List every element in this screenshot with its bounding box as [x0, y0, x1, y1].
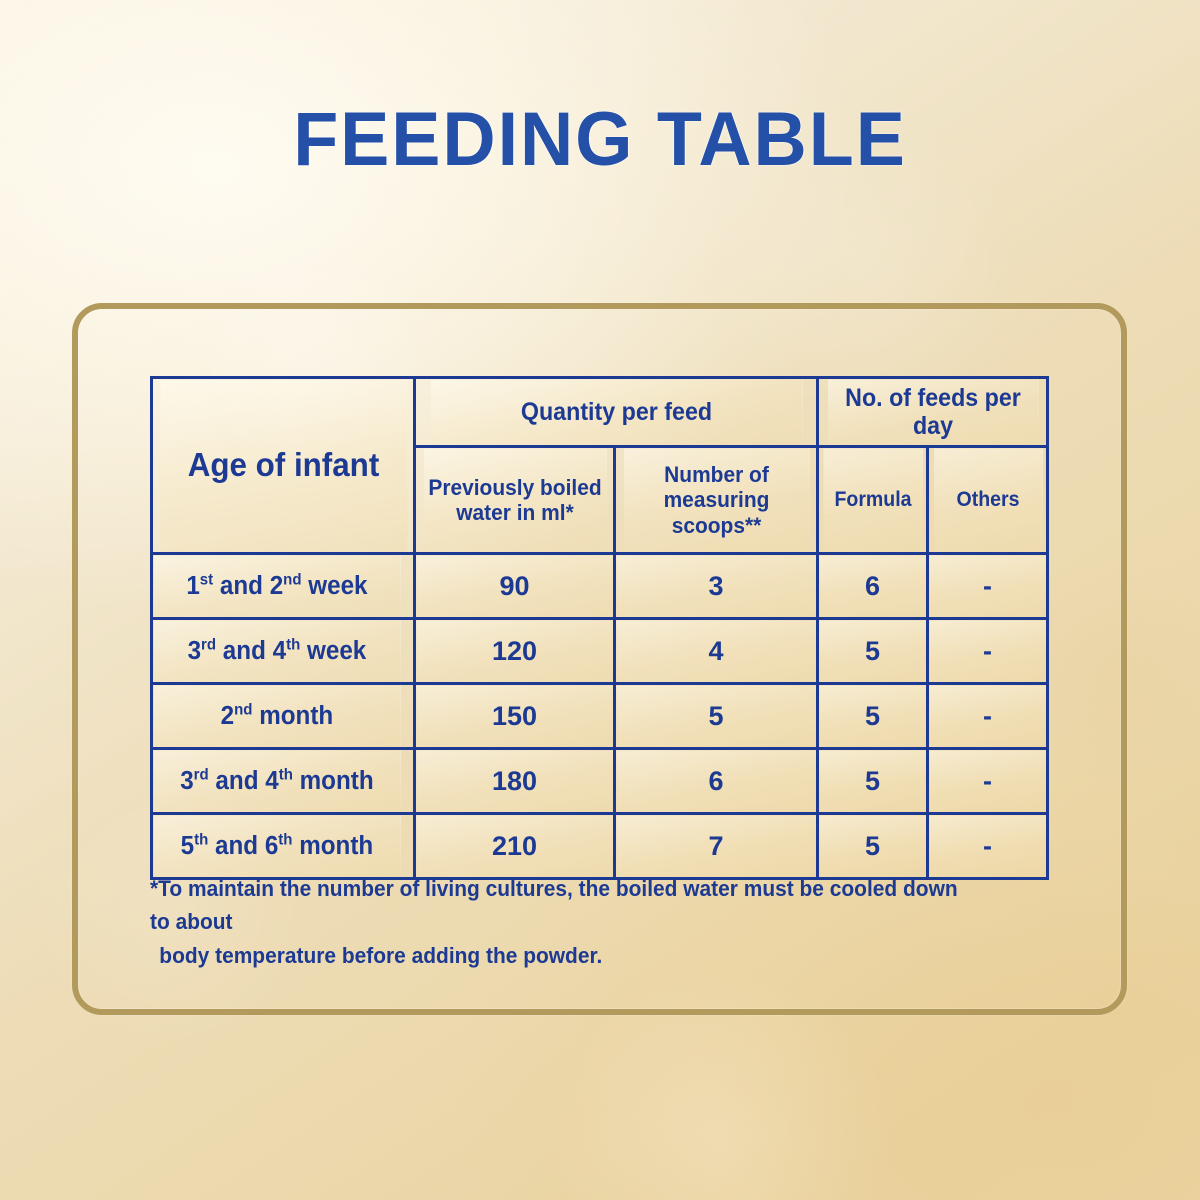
- age-conjunction: and: [216, 637, 273, 665]
- header-scoops-line1: Number of: [664, 462, 769, 487]
- age-number: 3: [180, 767, 193, 795]
- header-scoops-line2: measuring scoops**: [663, 487, 769, 537]
- cell-formula-feeds: 5: [818, 684, 928, 749]
- header-previously-boiled-water: Previously boiled water in ml*: [422, 447, 608, 554]
- header-no-of-feeds-per-day: No. of feeds per day: [826, 378, 1040, 447]
- age-ordinal-2: th: [286, 636, 300, 653]
- age-number: 1: [186, 572, 199, 600]
- table-header: Age of infant Quantity per feed No. of f…: [152, 378, 1048, 554]
- age-number-2: 2: [269, 572, 282, 600]
- age-ordinal: rd: [201, 636, 216, 653]
- cell-age: 3rd and 4th month: [152, 749, 402, 814]
- age-unit: month: [292, 832, 373, 860]
- cell-age: 3rd and 4th week: [152, 619, 402, 684]
- cell-formula-feeds: 5: [818, 749, 928, 814]
- header-quantity-per-feed: Quantity per feed: [429, 378, 804, 447]
- age-unit: week: [300, 637, 366, 665]
- table-row: 3rd and 4th week 120 4 5 -: [152, 619, 1048, 684]
- header-water-line1: Previously boiled: [428, 475, 601, 500]
- header-age-of-infant: Age of infant: [158, 378, 408, 554]
- age-number-2: 6: [264, 832, 277, 860]
- cell-scoops: 4: [615, 619, 818, 684]
- feeding-table: Age of infant Quantity per feed No. of f…: [150, 376, 1049, 880]
- header-number-of-measuring-scoops: Number of measuring scoops**: [622, 447, 811, 554]
- footnote-line-1: *To maintain the number of living cultur…: [150, 876, 958, 934]
- cell-scoops: 7: [615, 814, 818, 879]
- cell-other-feeds: -: [928, 814, 1048, 879]
- age-ordinal-2: th: [278, 831, 292, 848]
- cell-formula-feeds: 5: [818, 814, 928, 879]
- cell-other-feeds: -: [928, 684, 1048, 749]
- cell-scoops: 6: [615, 749, 818, 814]
- header-others: Others: [932, 447, 1044, 554]
- age-ordinal-2: nd: [283, 571, 301, 588]
- cell-age: 2nd month: [152, 684, 402, 749]
- feeding-table-page: FEEDING TABLE Age of infant Quantity per…: [0, 0, 1200, 1200]
- age-conjunction: and: [208, 832, 265, 860]
- cell-other-feeds: -: [928, 619, 1048, 684]
- cell-other-feeds: -: [928, 554, 1048, 619]
- header-water-line2: water in ml*: [456, 500, 573, 525]
- cell-scoops: 5: [615, 684, 818, 749]
- footnote-line-2: body temperature before adding the powde…: [150, 939, 959, 972]
- age-number: 3: [187, 637, 200, 665]
- age-number: 2: [220, 702, 233, 730]
- age-ordinal-2: th: [278, 766, 292, 783]
- cell-other-feeds: -: [928, 749, 1048, 814]
- table-row: 3rd and 4th month 180 6 5 -: [152, 749, 1048, 814]
- age-unit: month: [252, 702, 333, 730]
- cell-water-ml: 90: [415, 554, 615, 619]
- age-unit: week: [301, 572, 367, 600]
- cell-water-ml: 210: [415, 814, 615, 879]
- table-body: 1st and 2nd week 90 3 6 - 3rd and 4th we…: [152, 554, 1048, 879]
- cell-formula-feeds: 6: [818, 554, 928, 619]
- cell-age: 5th and 6th month: [152, 814, 402, 879]
- table-row: 5th and 6th month 210 7 5 -: [152, 814, 1048, 879]
- age-unit: month: [292, 767, 373, 795]
- age-ordinal: rd: [193, 766, 208, 783]
- age-number: 5: [180, 832, 193, 860]
- age-conjunction: and: [213, 572, 270, 600]
- cell-formula-feeds: 5: [818, 619, 928, 684]
- feeding-table-container: Age of infant Quantity per feed No. of f…: [150, 376, 1046, 880]
- cell-scoops: 3: [615, 554, 818, 619]
- cell-age: 1st and 2nd week: [152, 554, 402, 619]
- age-ordinal: st: [199, 571, 212, 588]
- table-row: 1st and 2nd week 90 3 6 -: [152, 554, 1048, 619]
- age-ordinal: th: [194, 831, 208, 848]
- page-title: FEEDING TABLE: [18, 96, 1182, 183]
- cell-water-ml: 180: [415, 749, 615, 814]
- cell-water-ml: 120: [415, 619, 615, 684]
- footnote: *To maintain the number of living cultur…: [150, 872, 959, 972]
- age-conjunction: and: [208, 767, 265, 795]
- table-row: 2nd month 150 5 5 -: [152, 684, 1048, 749]
- cell-water-ml: 150: [415, 684, 615, 749]
- header-formula: Formula: [821, 447, 923, 554]
- table-header-row-group: Age of infant Quantity per feed No. of f…: [152, 378, 1048, 447]
- age-number-2: 4: [265, 767, 278, 795]
- age-number-2: 4: [272, 637, 285, 665]
- age-ordinal: nd: [234, 701, 252, 718]
